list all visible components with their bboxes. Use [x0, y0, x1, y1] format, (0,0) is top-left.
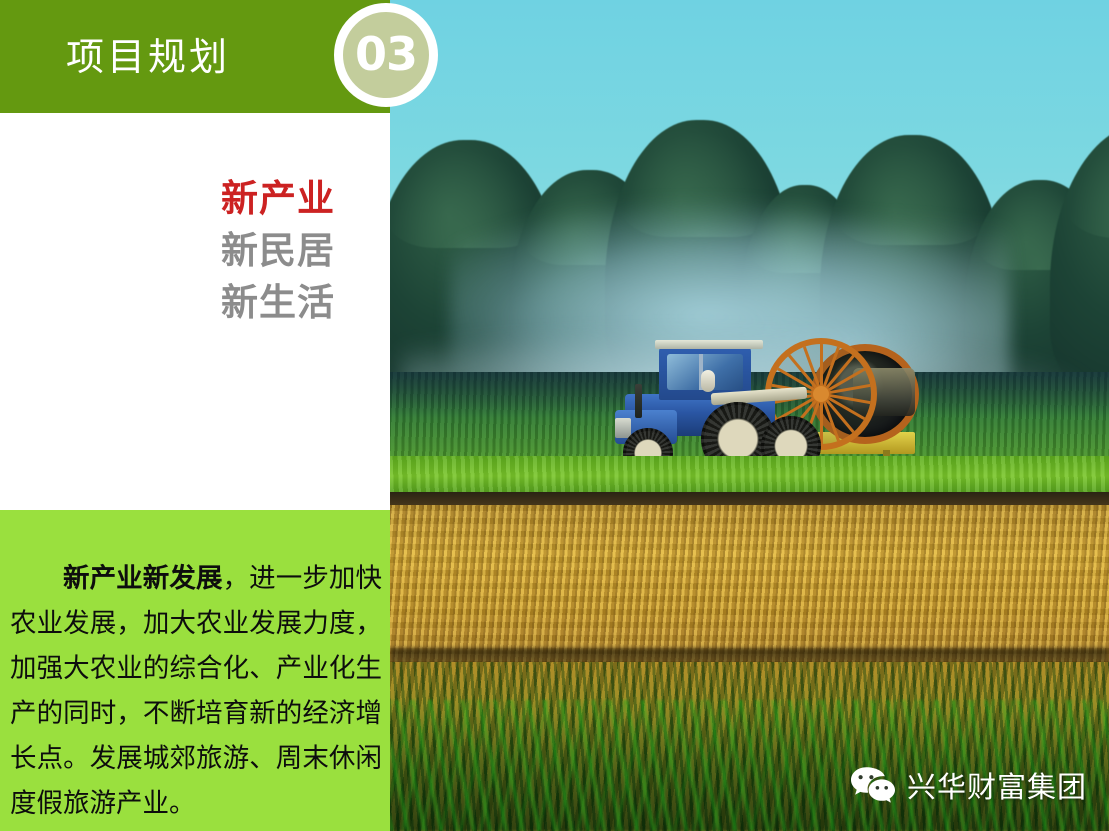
page-title: 项目规划 — [66, 38, 230, 76]
body-rest: ，进一步加快农业发展，加大农业发展力度，加强大农业的综合化、产业化生产的同时，不… — [10, 563, 382, 819]
watermark-text: 兴华财富集团 — [907, 764, 1087, 806]
headline-line-3: 新生活 — [221, 277, 335, 329]
grass-strip — [390, 456, 1109, 496]
background-photograph — [390, 0, 1109, 831]
exhaust-pipe — [635, 384, 642, 418]
section-number-badge: 03 — [334, 3, 438, 107]
body-copy-panel: 新产业新发展，进一步加快农业发展，加大农业发展力度，加强大农业的综合化、产业化生… — [0, 510, 390, 831]
reel-hub — [813, 386, 829, 402]
sprinkler-head — [701, 370, 715, 392]
headline-line-2: 新民居 — [221, 225, 335, 277]
tractor-grille — [615, 418, 631, 438]
section-header-bar: 项目规划 — [0, 0, 390, 113]
body-paragraph: 新产业新发展，进一步加快农业发展，加大农业发展力度，加强大农业的综合化、产业化生… — [10, 556, 382, 826]
watermark: 兴华财富集团 — [850, 764, 1087, 806]
stubble-field — [390, 505, 1109, 665]
headline-line-1: 新产业 — [221, 173, 335, 225]
headline-group: 新产业 新民居 新生活 — [221, 173, 335, 329]
wechat-icon — [850, 766, 896, 804]
tractor-roof — [655, 340, 763, 349]
section-number-label: 03 — [355, 31, 417, 77]
headline-panel: 新产业 新民居 新生活 — [0, 113, 390, 510]
slide-root: 项目规划 03 新产业 新民居 新生活 新产业新发展，进一步加快农业发展，加大农… — [0, 0, 1109, 831]
body-lead-in: 新产业新发展 — [63, 563, 223, 594]
